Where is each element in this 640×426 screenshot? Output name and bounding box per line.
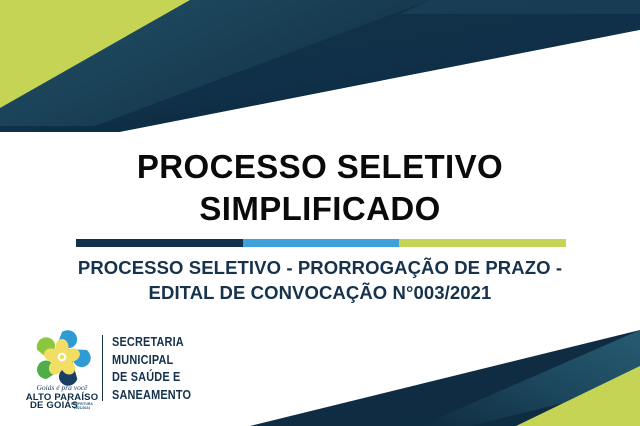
secretariat-line-4: SANEAMENTO	[112, 386, 191, 404]
subtitle-line-2: EDITAL DE CONVOCAÇÃO N°003/2021	[0, 280, 640, 305]
top-navy-wedge	[0, 0, 640, 132]
top-teal-sliver	[400, 0, 640, 14]
subtitle-line-1: PROCESSO SELETIVO - PRORROGAÇÃO DE PRAZO…	[0, 255, 640, 280]
divider-segment-green	[399, 239, 566, 247]
top-teal-stripe	[0, 0, 430, 126]
divider-segment-navy	[76, 239, 243, 247]
secretariat-line-3: DE SAÚDE E	[112, 368, 191, 386]
emblem-script-caption: Goiás é pra você	[36, 383, 88, 392]
logo-divider-rule	[102, 335, 103, 401]
logo-lockup: Goiás é pra você ALTO PARAÍSO DE GOIÁS P…	[26, 326, 207, 410]
bottom-green-wedge	[516, 366, 640, 426]
bottom-navy-wedge	[250, 330, 640, 426]
secretariat-name: SECRETARIA MUNICIPAL DE SAÚDE E SANEAMEN…	[112, 333, 206, 403]
alto-paraiso-de-goias-emblem-icon: Goiás é pra você ALTO PARAÍSO DE GOIÁS P…	[26, 326, 98, 410]
page-subtitle: PROCESSO SELETIVO - PRORROGAÇÃO DE PRAZO…	[0, 255, 640, 305]
secretariat-line-2: MUNICIPAL	[112, 351, 191, 369]
tricolor-divider	[76, 239, 566, 247]
title-line-1: PROCESSO SELETIVO	[0, 146, 640, 188]
emblem-wordmark-tag-years: 2021/2024	[74, 406, 90, 410]
page-title: PROCESSO SELETIVO SIMPLIFICADO	[0, 146, 640, 230]
secretariat-line-1: SECRETARIA	[112, 333, 191, 351]
divider-segment-blue	[243, 239, 399, 247]
poster-canvas: PROCESSO SELETIVO SIMPLIFICADO PROCESSO …	[0, 0, 640, 426]
bottom-teal-stripe	[420, 330, 640, 426]
title-line-2: SIMPLIFICADO	[0, 188, 640, 230]
top-green-triangle	[0, 0, 190, 108]
